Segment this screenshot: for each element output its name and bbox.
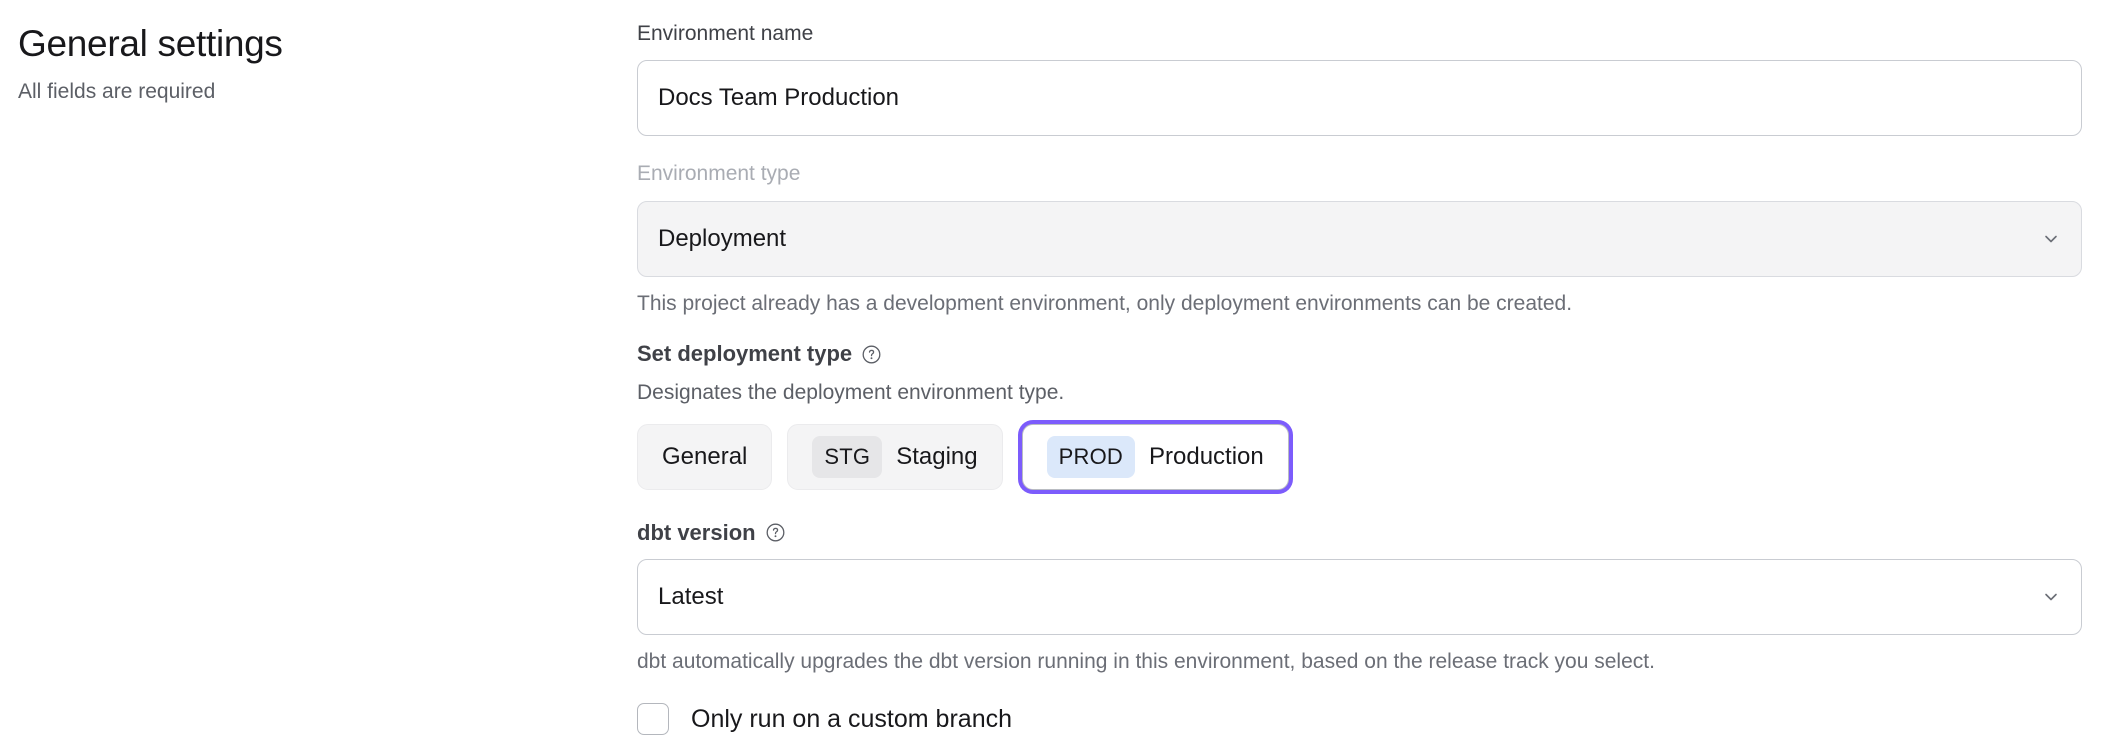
question-circle-icon[interactable] [861,344,882,365]
environment-name-label: Environment name [637,20,2082,47]
general-settings-page: General settings All fields are required… [0,0,2110,742]
environment-type-field: Environment type Deployment This project… [637,160,2082,317]
custom-branch-row: Only run on a custom branch [637,703,2082,735]
deployment-type-option-general[interactable]: General [637,424,772,490]
dbt-version-helper: dbt automatically upgrades the dbt versi… [637,648,2082,675]
environment-type-label: Environment type [637,160,2082,187]
environment-name-input[interactable]: Docs Team Production [637,60,2082,136]
dbt-version-label: dbt version [637,520,756,546]
environment-name-field: Environment name Docs Team Production [637,20,2082,136]
deployment-type-option-production-label: Production [1149,443,1264,471]
dbt-version-field: dbt version Latest dbt automatica [637,520,2082,676]
deployment-type-button-group: General STG Staging PROD Production [637,424,2082,490]
deployment-type-option-staging-label: Staging [896,443,977,471]
stg-badge: STG [812,436,882,478]
environment-type-select[interactable]: Deployment [637,201,2082,277]
custom-branch-checkbox[interactable] [637,703,669,735]
question-circle-icon[interactable] [765,522,786,543]
dbt-version-select-wrap: Latest [637,559,2082,635]
deployment-type-heading: Set deployment type [637,341,2082,367]
prod-badge: PROD [1047,436,1135,478]
page-title: General settings [18,22,598,66]
page-subtitle: All fields are required [18,79,598,105]
deployment-type-option-general-label: General [662,443,747,471]
dbt-version-select[interactable]: Latest [637,559,2082,635]
dbt-version-heading: dbt version [637,520,2082,546]
deployment-type-option-production[interactable]: PROD Production [1022,424,1289,490]
settings-form: Environment name Docs Team Production En… [637,20,2082,735]
settings-header: General settings All fields are required [18,22,598,106]
deployment-type-field: Set deployment type Designates the deplo… [637,341,2082,490]
environment-type-select-wrap: Deployment [637,201,2082,277]
deployment-type-label: Set deployment type [637,341,852,367]
deployment-type-description: Designates the deployment environment ty… [637,379,2082,406]
environment-type-helper: This project already has a development e… [637,290,2082,317]
custom-branch-label: Only run on a custom branch [691,704,1012,734]
deployment-type-option-staging[interactable]: STG Staging [787,424,1002,490]
